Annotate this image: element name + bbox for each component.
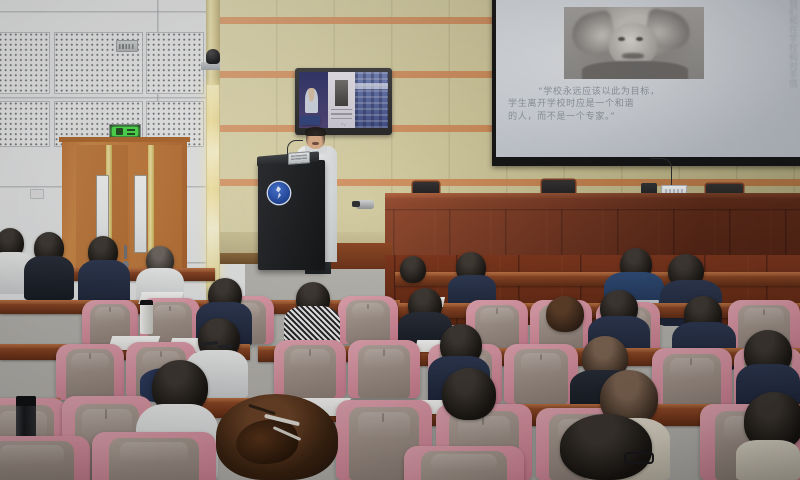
light-column — [206, 0, 220, 300]
acoustic-panel — [146, 32, 204, 94]
door-handle[interactable] — [124, 245, 127, 259]
exit-sign-glow — [112, 127, 138, 136]
auditorium-seat — [348, 340, 420, 398]
light-column-glow — [207, 85, 219, 285]
portrait-eye — [636, 37, 643, 41]
acoustic-panel — [0, 101, 50, 147]
auditorium-seat — [652, 348, 732, 410]
speaker-hair — [305, 127, 326, 136]
tv-room-band — [355, 83, 388, 89]
attendee-head — [560, 414, 652, 480]
einstein-portrait-image — [564, 7, 704, 79]
wall-socket — [30, 189, 44, 199]
portrait-shoulders — [582, 61, 688, 79]
auditorium-seat — [0, 436, 90, 480]
auditorium-seat — [56, 344, 124, 400]
auditorium-seat — [404, 446, 524, 480]
door-frame-header — [59, 137, 190, 142]
tv-desk — [300, 116, 319, 125]
slide-caption-line-2: 学生离开学校时应是一个和谐 — [508, 98, 721, 110]
slide-caption-line-1: “学校永远应该以此为目标， — [508, 86, 721, 98]
eyeglasses — [624, 452, 654, 464]
auditorium-seat — [338, 296, 398, 344]
lectern — [258, 160, 325, 270]
tv-pane-room-feed — [355, 72, 388, 128]
tv-brand-mark: TV — [341, 123, 346, 127]
tv-figure — [305, 88, 317, 114]
attendee-head — [546, 296, 584, 332]
tv-pane-slide-feed — [328, 72, 355, 128]
tv-slide-textline — [331, 113, 352, 115]
tv-slide-textline — [331, 118, 352, 120]
tv-pane-speaker-feed — [299, 72, 328, 128]
slide-side-column-text: 自们和在学校和对手情 — [781, 0, 797, 88]
slide-caption-line-3: 的人，而不是一个专家。” — [508, 111, 721, 123]
exit-sign — [109, 124, 141, 138]
wall-mounted-tv: TV — [295, 68, 392, 135]
table-microphone-gooseneck — [650, 158, 672, 185]
speaker-head — [306, 128, 325, 149]
auditorium-seat — [92, 432, 216, 480]
attendee-body — [736, 440, 800, 480]
university-crest-icon — [268, 182, 290, 204]
portrait-moustache — [622, 53, 644, 59]
thermos-bottle — [140, 300, 153, 334]
tv-room-seats — [355, 72, 388, 128]
door-vision-panel — [134, 175, 147, 253]
table-equipment — [356, 200, 374, 209]
attendee-head — [442, 368, 496, 420]
projection-screen: “学校永远应该以此为目标， 学生离开学校时应是一个和谐 的人，而不是一个专家。”… — [496, 0, 800, 157]
portrait-eye — [618, 37, 625, 41]
slide-caption-text: “学校永远应该以此为目标， 学生离开学校时应是一个和谐 的人，而不是一个专家。” — [508, 86, 721, 123]
auditorium-seat — [504, 344, 578, 404]
lecture-hall-photo: “学校永远应该以此为目标， 学生离开学校时应是一个和谐 的人，而不是一个专家。”… — [0, 0, 800, 480]
loudspeaker-dome — [206, 49, 220, 64]
tv-slide-portrait — [335, 80, 347, 106]
acoustic-panel — [0, 32, 50, 94]
attendee-body — [24, 256, 74, 300]
tv-slide-textline — [331, 109, 352, 111]
tv-screen: TV — [299, 72, 388, 128]
speaker-mouth — [312, 142, 319, 145]
attendee-head — [400, 256, 426, 283]
projection-screen-frame: “学校永远应该以此为目标， 学生离开学校时应是一个和谐 的人，而不是一个专家。”… — [492, 0, 800, 166]
podium-microphone — [287, 140, 303, 162]
auditorium-seat — [274, 340, 346, 398]
wall-device-plate — [116, 40, 138, 52]
